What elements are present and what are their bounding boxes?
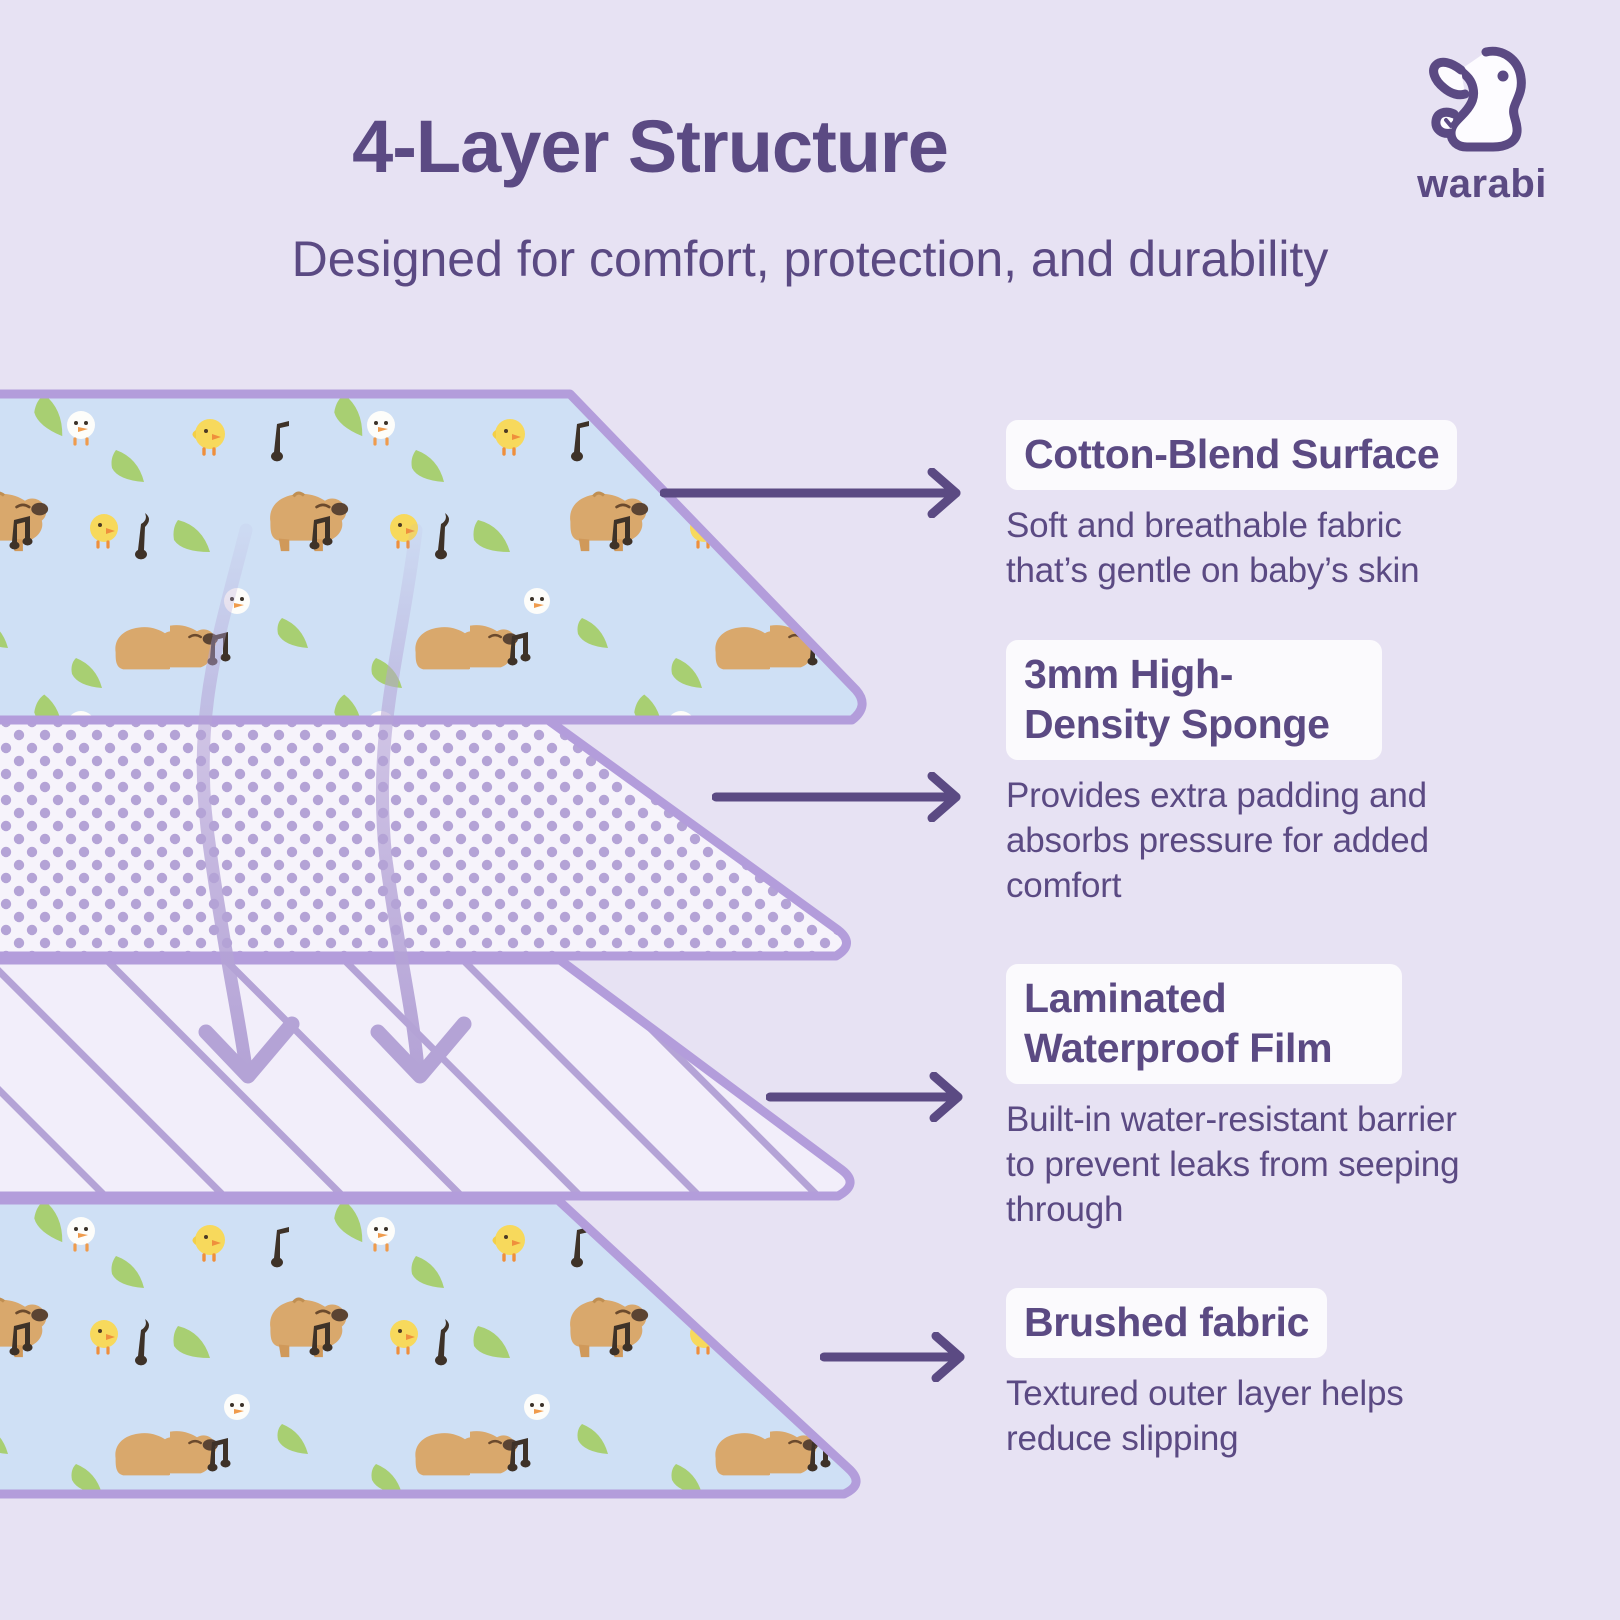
layer-description-cotton-blend-surface: Soft and breathable fabric that’s gentle…	[1006, 504, 1476, 594]
layer-description-brushed-fabric: Textured outer layer helps reduce slippi…	[1006, 1372, 1476, 1462]
connector-arrow-4	[820, 1332, 984, 1382]
layer-shape-brushed-fabric	[0, 1196, 880, 1502]
connector-arrow-2	[712, 772, 980, 822]
layer-title-brushed-fabric: Brushed fabric	[1006, 1288, 1327, 1358]
liquid-flow-arrows	[150, 520, 570, 1120]
info-block-brushed-fabric: Brushed fabric Textured outer layer help…	[1006, 1288, 1476, 1462]
layer-description-laminated-waterproof-film: Built-in water-resistant barrier to prev…	[1006, 1098, 1476, 1232]
connector-arrow-1	[660, 468, 980, 518]
brand-logo: warabi	[1382, 40, 1582, 210]
info-block-high-density-sponge: 3mm High-Density Sponge Provides extra p…	[1006, 640, 1476, 908]
layer-description-high-density-sponge: Provides extra padding and absorbs press…	[1006, 774, 1476, 908]
brand-name: warabi	[1382, 162, 1582, 207]
info-block-cotton-blend-surface: Cotton-Blend Surface Soft and breathable…	[1006, 420, 1476, 594]
page-subtitle: Designed for comfort, protection, and du…	[0, 232, 1620, 287]
infographic-canvas: 4-Layer Structure Designed for comfort, …	[0, 0, 1620, 1620]
rabbit-icon	[1417, 40, 1547, 158]
layer-title-high-density-sponge: 3mm High-Density Sponge	[1006, 640, 1382, 760]
connector-arrow-3	[766, 1072, 982, 1122]
info-block-laminated-waterproof-film: Laminated Waterproof Film Built-in water…	[1006, 964, 1476, 1232]
layer-title-cotton-blend-surface: Cotton-Blend Surface	[1006, 420, 1457, 490]
page-title: 4-Layer Structure	[0, 108, 1300, 186]
layer-title-laminated-waterproof-film: Laminated Waterproof Film	[1006, 964, 1402, 1084]
